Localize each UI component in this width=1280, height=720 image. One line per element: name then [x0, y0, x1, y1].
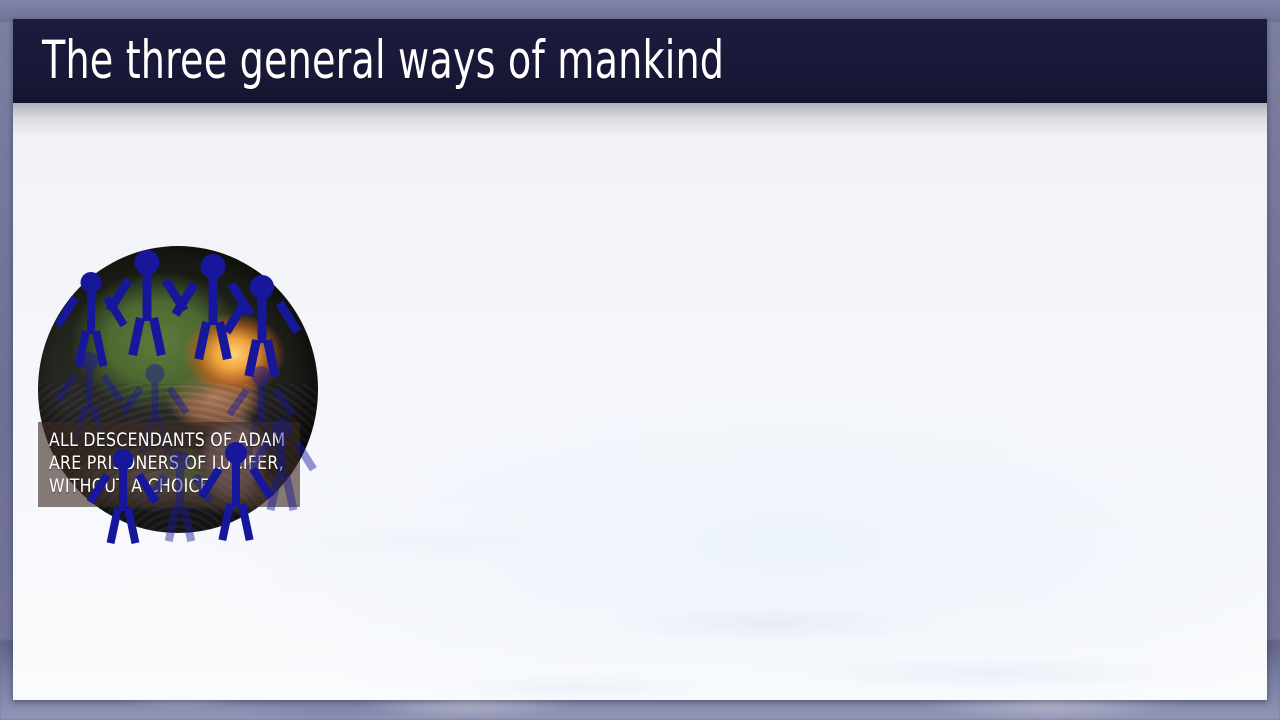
figure-leg-left	[75, 330, 90, 367]
figure-torso	[278, 437, 286, 478]
figure-head	[113, 449, 134, 470]
stick-figure	[122, 250, 172, 356]
figure-leg-left	[218, 503, 234, 541]
stick-figure	[238, 275, 286, 377]
presentation-viewer: The three general ways of mankind	[0, 0, 1280, 720]
slide-title: The three general ways of mankind	[42, 25, 724, 97]
figure-leg-right	[238, 503, 254, 541]
stick-figure	[101, 449, 145, 545]
figure-torso	[87, 292, 95, 334]
figure-leg-right	[180, 506, 195, 542]
figure-torso	[143, 273, 152, 321]
figure-leg-right	[149, 317, 166, 356]
figure-head	[250, 275, 274, 299]
stick-figure	[159, 451, 201, 543]
stick-figure	[213, 442, 259, 542]
figure-leg-right	[282, 474, 297, 511]
figure-head	[170, 451, 190, 471]
figure-leg-right	[92, 330, 107, 367]
slide-title-bar: The three general ways of mankind	[13, 19, 1267, 103]
figure-torso	[119, 469, 127, 511]
globe-illustration: ALL DESCENDANTS OF ADAM ARE PRISONERS OF…	[25, 246, 317, 538]
figure-head	[201, 254, 226, 279]
figure-leg-right	[263, 339, 279, 377]
figure-head	[272, 418, 292, 438]
figure-leg-left	[107, 507, 122, 544]
figure-leg-left	[244, 339, 260, 377]
figure-leg-left	[194, 321, 211, 360]
figure-head	[81, 272, 102, 293]
figure-torso	[152, 382, 159, 422]
figure-head	[146, 364, 165, 383]
figure-torso	[86, 370, 93, 410]
stick-figure	[188, 254, 238, 360]
figure-torso	[176, 470, 184, 510]
figure-leg-left	[128, 317, 145, 356]
stick-figure	[69, 272, 113, 368]
slide: The three general ways of mankind	[13, 19, 1267, 700]
figure-head	[135, 250, 160, 275]
figure-leg-right	[124, 507, 139, 544]
figure-torso	[232, 463, 240, 507]
figure-leg-left	[165, 506, 180, 542]
figure-head	[225, 442, 247, 464]
figure-torso	[258, 297, 267, 343]
figure-torso	[209, 277, 218, 325]
